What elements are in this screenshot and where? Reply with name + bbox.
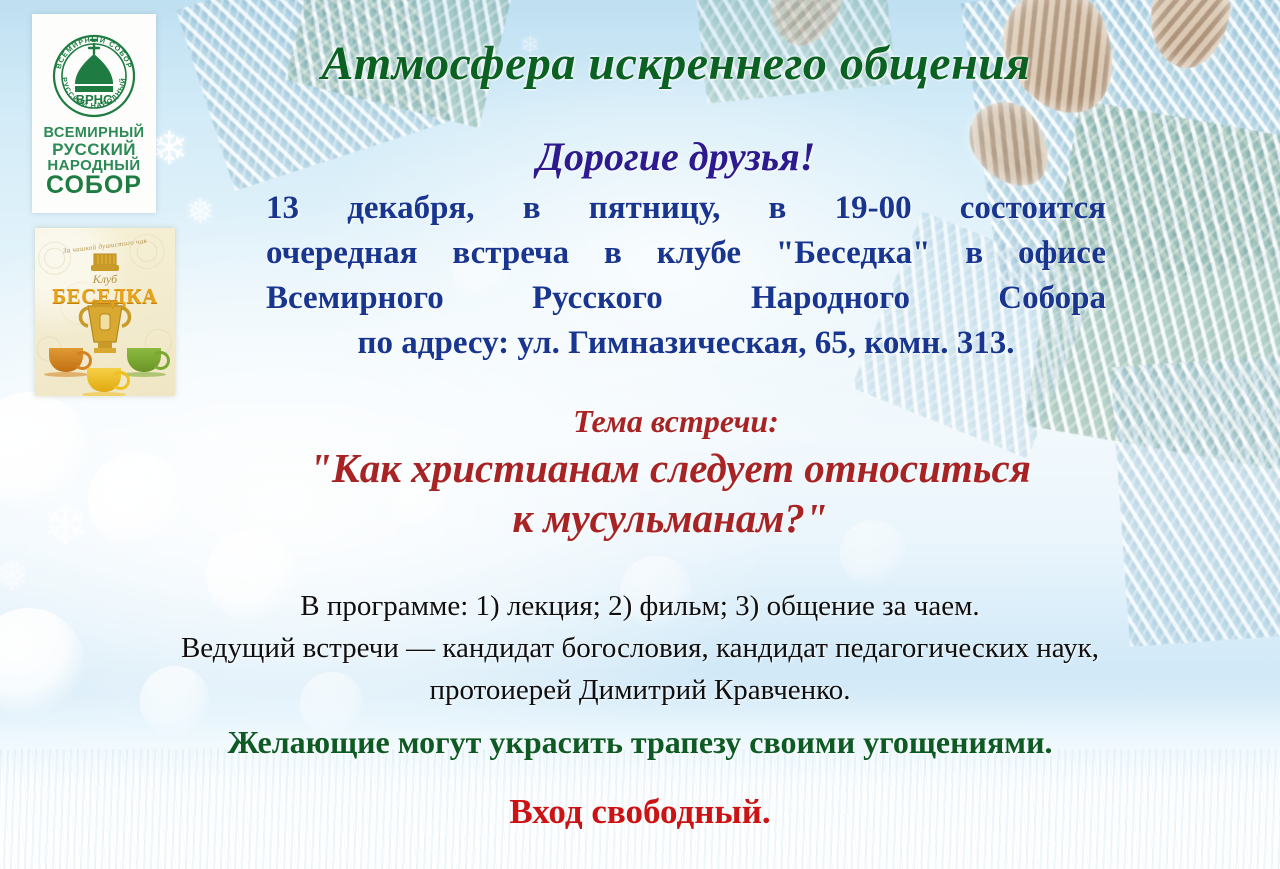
- snowflake-icon: ❄: [42, 498, 89, 554]
- winter-event-poster: ❄ ❅ ❄ ❅ ❄ ❅ ❄ ВРНС ВСЕМИРНЫЙ СОБОР: [0, 0, 1280, 869]
- snowflake-icon: ❅: [0, 556, 29, 598]
- theme-title-line-2: к мусульманам?": [180, 493, 1160, 543]
- teacup-green-icon: [127, 348, 161, 372]
- bokeh-light: [88, 452, 184, 548]
- announcement-line-2: очередная встреча в клубе "Беседка" в оф…: [266, 231, 1106, 276]
- program-line-2: Ведущий встречи — кандидат богословия, к…: [40, 627, 1240, 669]
- announcement-line-3: Всемирного Русского Народного Собора: [266, 276, 1106, 321]
- announcement-line-4: по адресу: ул. Гимназическая, 65, комн. …: [266, 321, 1106, 366]
- teacups-group: [35, 336, 175, 388]
- vrns-logo: ВРНС ВСЕМИРНЫЙ СОБОР РУССКИЙ НАРОДНЫЙ ВС…: [32, 14, 156, 213]
- vrns-word-4: СОБОР: [44, 173, 145, 199]
- program-line-3: протоиерей Димитрий Кравченко.: [40, 669, 1240, 711]
- poster-greeting: Дорогие друзья!: [236, 133, 1116, 180]
- theme-label: Тема встречи:: [236, 403, 1116, 440]
- program-line-1: В программе: 1) лекция; 2) фильм; 3) общ…: [40, 585, 1240, 627]
- besedka-name: БЕСЕДКА: [35, 284, 175, 309]
- besedka-club-logo: За чашкой душистого чая Клуб БЕСЕДКА: [35, 228, 175, 396]
- pine-cone-icon: [1141, 0, 1238, 75]
- theme-title: "Как христианам следует относиться к мус…: [180, 443, 1160, 543]
- program-block: В программе: 1) лекция; 2) фильм; 3) общ…: [40, 585, 1240, 711]
- snowflake-icon: ❅: [186, 196, 215, 230]
- invite-note: Желающие могут украсить трапезу своими у…: [60, 724, 1220, 761]
- theme-title-line-1: "Как христианам следует относиться: [180, 443, 1160, 493]
- vrns-word-2: РУССКИЙ: [44, 141, 145, 158]
- teacup-orange-icon: [49, 348, 83, 372]
- free-entry-note: Вход свободный.: [60, 792, 1220, 832]
- poster-headline: Атмосфера искреннего общения: [236, 36, 1116, 91]
- announcement-line-1: 13 декабря, в пятницу, в 19-00 состоится: [266, 186, 1106, 231]
- bokeh-light: [0, 392, 90, 512]
- teacup-yellow-icon: [87, 368, 121, 392]
- vrns-word-1: ВСЕМИРНЫЙ: [44, 126, 145, 141]
- announcement-block: 13 декабря, в пятницу, в 19-00 состоится…: [266, 186, 1106, 366]
- vrns-wordmark: ВСЕМИРНЫЙ РУССКИЙ НАРОДНЫЙ СОБОР: [44, 126, 145, 199]
- vrns-emblem-icon: ВРНС ВСЕМИРНЫЙ СОБОР РУССКИЙ НАРОДНЫЙ: [42, 20, 146, 124]
